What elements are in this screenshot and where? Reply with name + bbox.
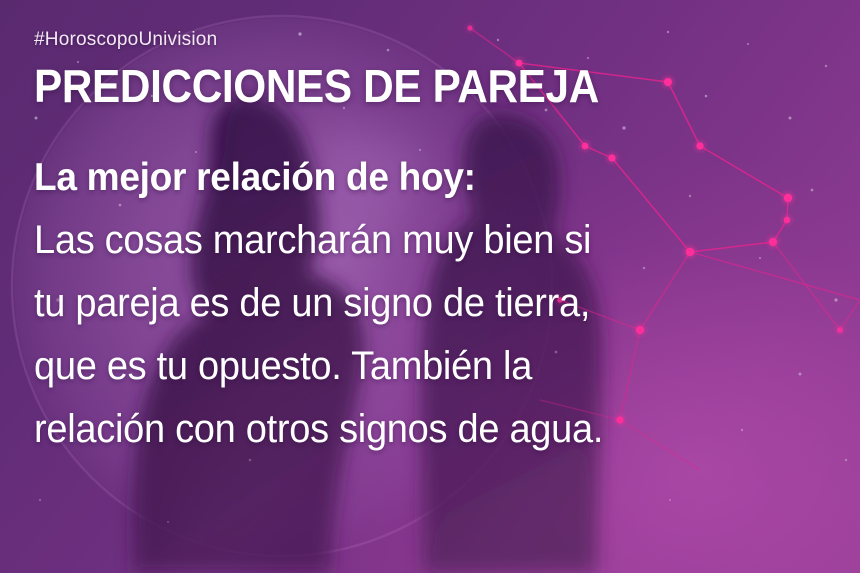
prediction-line-1: Las cosas marcharán muy bien si xyxy=(34,209,786,272)
horoscope-card: #HoroscopoUnivision PREDICCIONES DE PARE… xyxy=(0,0,860,573)
card-content: #HoroscopoUnivision PREDICCIONES DE PARE… xyxy=(0,0,860,573)
prediction-line-2: tu pareja es de un signo de tierra, xyxy=(34,272,786,335)
prediction-body: La mejor relación de hoy: Las cosas marc… xyxy=(34,146,826,461)
prediction-line-4: relación con otros signos de agua. xyxy=(34,398,786,461)
hashtag-label: #HoroscopoUnivision xyxy=(34,30,826,49)
page-title: PREDICCIONES DE PAREJA xyxy=(34,63,763,110)
prediction-lead-label: La mejor relación de hoy: xyxy=(34,146,786,209)
prediction-line-3: que es tu opuesto. También la xyxy=(34,335,786,398)
